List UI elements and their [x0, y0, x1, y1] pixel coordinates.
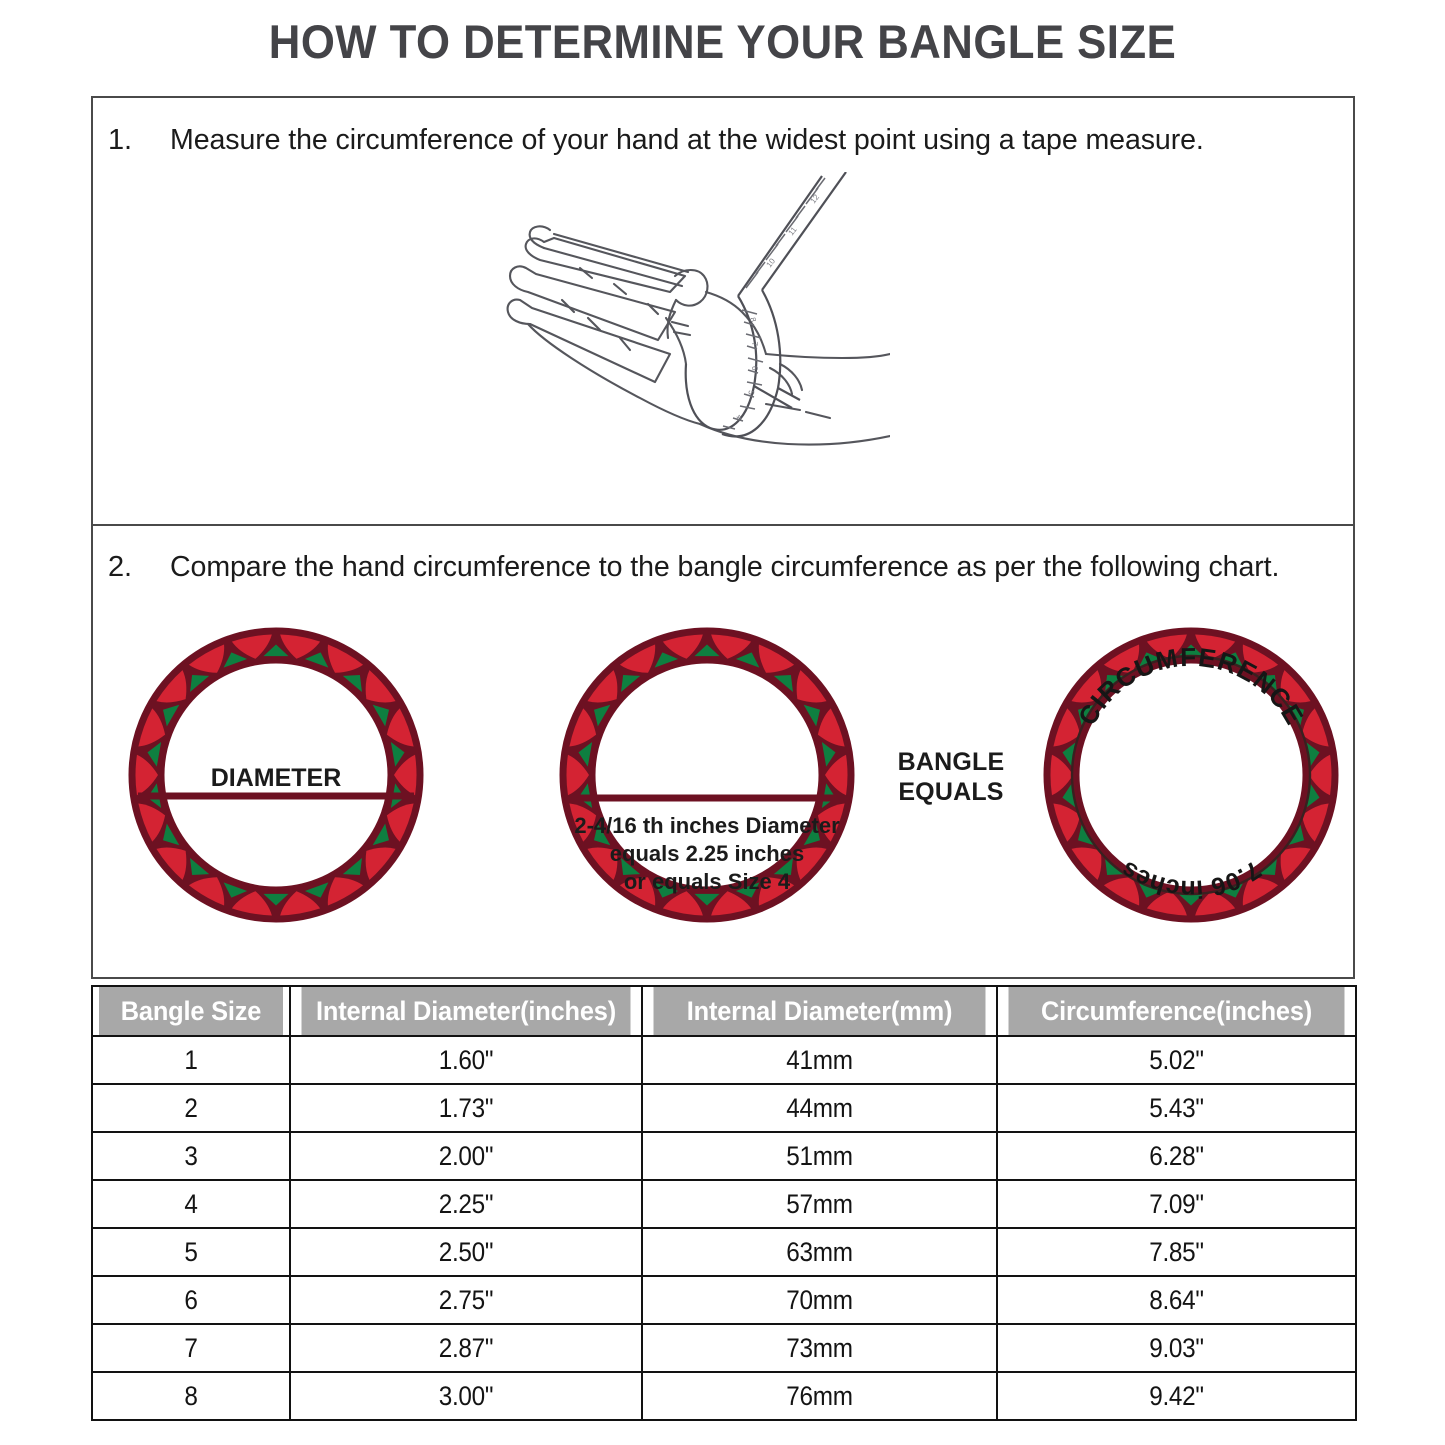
- table-cell-diameter-mm: 63mm: [660, 1228, 980, 1276]
- table-row: 42.25"57mm7.09": [92, 1180, 1356, 1228]
- table-cell-diameter-inches: 2.00": [308, 1132, 625, 1180]
- page-title: HOW TO DETERMINE YOUR BANGLE SIZE: [51, 14, 1395, 69]
- table-header-row: Bangle Size Internal Diameter(inches) In…: [92, 986, 1356, 1036]
- table-cell-diameter-mm: 57mm: [660, 1180, 980, 1228]
- column-header-diameter-mm: Internal Diameter(mm): [653, 986, 987, 1036]
- svg-text:11: 11: [786, 225, 799, 238]
- bangle-diagram-circumference: CIRCUMFERENCE 7.06 inches: [1016, 600, 1366, 955]
- svg-text:8: 8: [748, 317, 758, 324]
- table-cell-circumference: 9.03": [1015, 1324, 1338, 1372]
- step-1-number: 1.: [108, 124, 170, 157]
- column-header-bangle-size: Bangle Size: [98, 986, 284, 1036]
- column-header-diameter-inches: Internal Diameter(inches): [301, 986, 632, 1036]
- table-cell-diameter-inches: 1.60": [308, 1036, 625, 1084]
- step-2-text: Compare the hand circumference to the ba…: [170, 551, 1279, 584]
- table-cell-diameter-mm: 44mm: [660, 1084, 980, 1132]
- table-row: 72.87"73mm9.03": [92, 1324, 1356, 1372]
- bangle-diagram-diameter: DIAMETER: [101, 600, 451, 955]
- table-cell-size: 2: [102, 1084, 280, 1132]
- size-line-3: or equals Size 4: [624, 869, 791, 894]
- diameter-label: DIAMETER: [211, 764, 342, 792]
- table-cell-size: 5: [102, 1228, 280, 1276]
- table-cell-circumference: 5.02": [1015, 1036, 1338, 1084]
- hand-measure-illustration: 8 7 6 5 4 10 11 12: [470, 172, 890, 517]
- table-cell-circumference: 7.85": [1015, 1228, 1338, 1276]
- table-cell-diameter-inches: 2.75": [308, 1276, 625, 1324]
- table-row: 21.73"44mm5.43": [92, 1084, 1356, 1132]
- step-2-number: 2.: [108, 551, 170, 584]
- table-cell-size: 4: [102, 1180, 280, 1228]
- table-cell-circumference: 5.43": [1015, 1084, 1338, 1132]
- table-cell-size: 1: [102, 1036, 280, 1084]
- step-1-text: Measure the circumference of your hand a…: [170, 124, 1204, 157]
- table-cell-diameter-inches: 3.00": [308, 1372, 625, 1420]
- table-row: 62.75"70mm8.64": [92, 1276, 1356, 1324]
- bangle-size-table: Bangle Size Internal Diameter(inches) In…: [91, 985, 1357, 1421]
- table-cell-diameter-inches: 2.50": [308, 1228, 625, 1276]
- step-1-row: 1. Measure the circumference of your han…: [108, 124, 1219, 157]
- table-cell-diameter-mm: 70mm: [660, 1276, 980, 1324]
- table-cell-size: 7: [102, 1324, 280, 1372]
- bangle-diagram-size: 2-4/16 th inches Diameter equals 2.25 in…: [532, 600, 882, 955]
- table-row: 11.60"41mm5.02": [92, 1036, 1356, 1084]
- table-row: 32.00"51mm6.28": [92, 1132, 1356, 1180]
- column-header-circumference-inches: Circumference(inches): [1008, 986, 1345, 1036]
- table-cell-circumference: 7.09": [1015, 1180, 1338, 1228]
- size-line-1: 2-4/16 th inches Diameter: [574, 813, 840, 838]
- table-body: 11.60"41mm5.02"21.73"44mm5.43"32.00"51mm…: [92, 1036, 1356, 1420]
- table-row: 52.50"63mm7.85": [92, 1228, 1356, 1276]
- table-cell-diameter-mm: 76mm: [660, 1372, 980, 1420]
- step-2-row: 2. Compare the hand circumference to the…: [108, 551, 1296, 584]
- table-cell-circumference: 6.28": [1015, 1132, 1338, 1180]
- bangle-diagrams: DIAMETER 2-4/16 th inches Diameter equal…: [91, 600, 1355, 970]
- table-cell-size: 8: [102, 1372, 280, 1420]
- table-cell-diameter-inches: 2.25": [308, 1180, 625, 1228]
- table-cell-circumference: 9.42": [1015, 1372, 1338, 1420]
- table-cell-diameter-mm: 51mm: [660, 1132, 980, 1180]
- table-row: 83.00"76mm9.42": [92, 1372, 1356, 1420]
- table-cell-diameter-mm: 73mm: [660, 1324, 980, 1372]
- table-cell-size: 6: [102, 1276, 280, 1324]
- table-cell-circumference: 8.64": [1015, 1276, 1338, 1324]
- table-cell-diameter-inches: 2.87": [308, 1324, 625, 1372]
- table-cell-diameter-mm: 41mm: [660, 1036, 980, 1084]
- size-line-2: equals 2.25 inches: [610, 841, 804, 866]
- table-cell-size: 3: [102, 1132, 280, 1180]
- svg-text:6: 6: [750, 366, 759, 371]
- table-cell-diameter-inches: 1.73": [308, 1084, 625, 1132]
